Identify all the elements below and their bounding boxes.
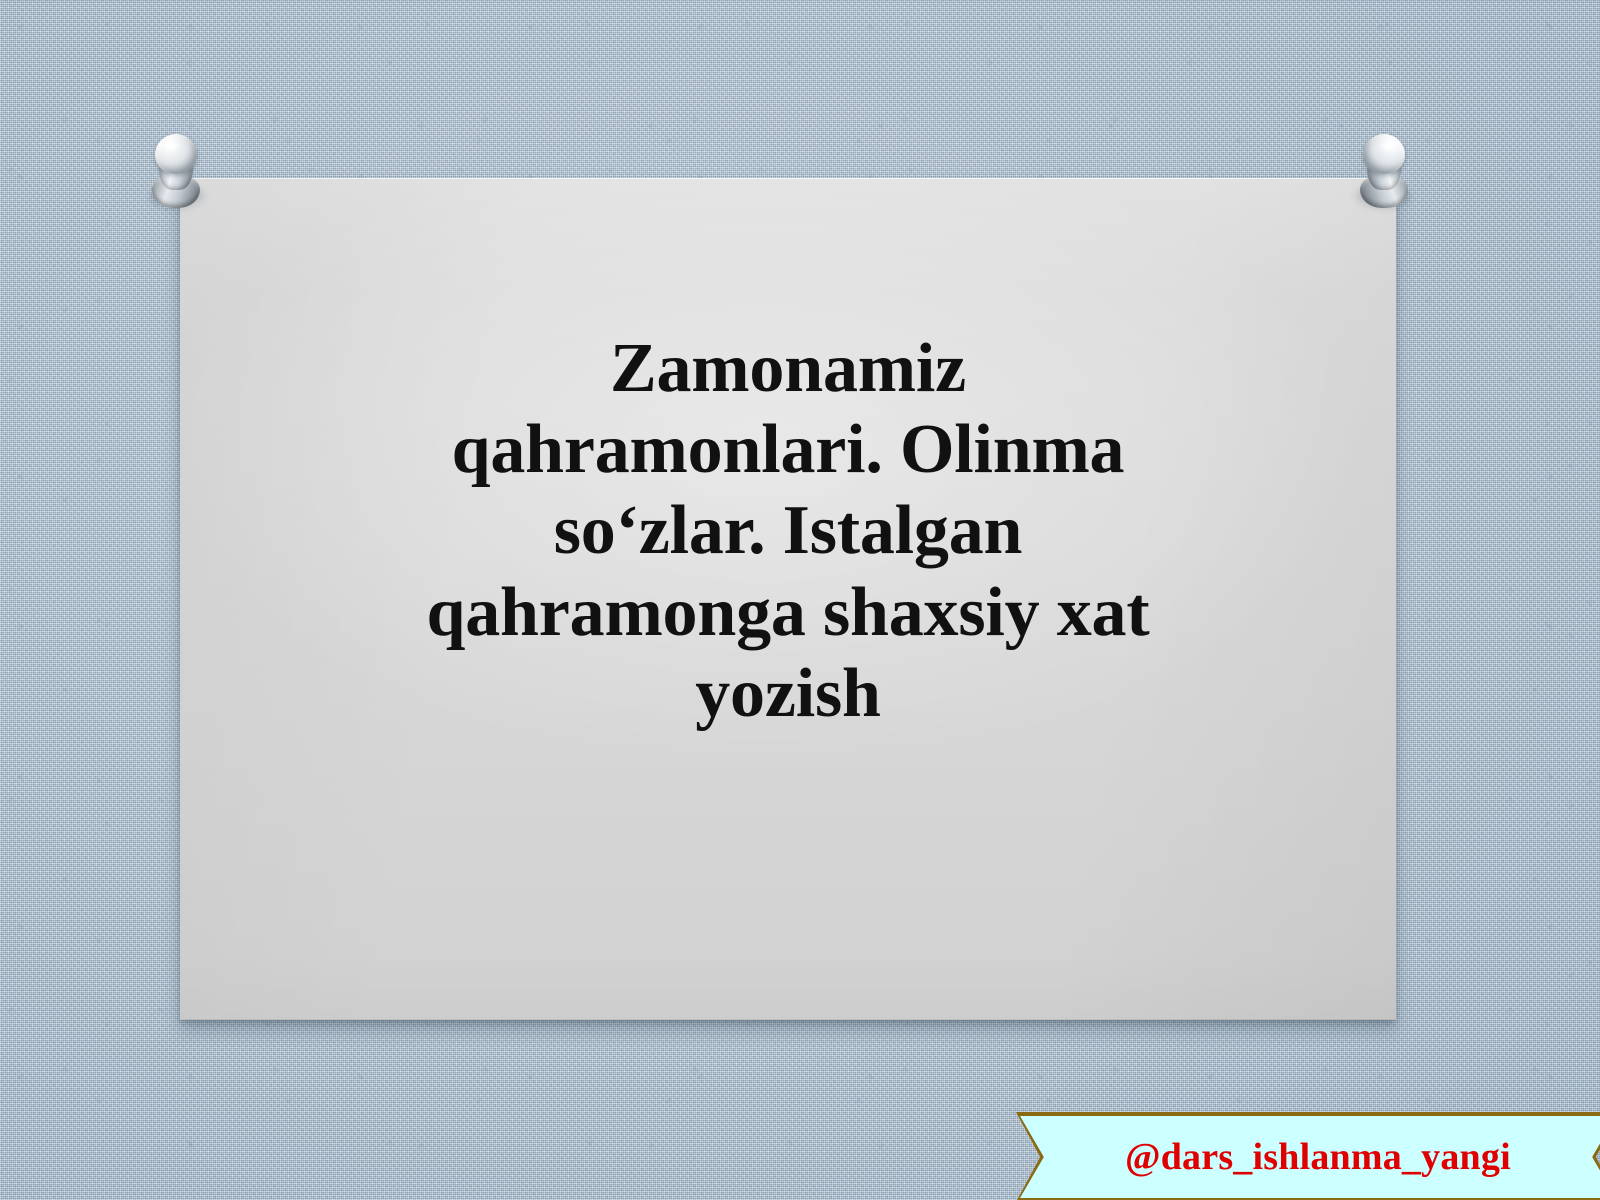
watermark-handle: @dars_ishlanma_yangi: [1020, 1116, 1600, 1198]
slide-canvas: Zamonamiz qahramonlari. Olinma so‘zlar. …: [0, 0, 1600, 1200]
title-line-4: qahramonga shaxsiy xat: [234, 572, 1342, 653]
title-line-5: yozish: [234, 653, 1342, 734]
title-line-1: Zamonamiz: [234, 328, 1342, 409]
slide-title-block: Zamonamiz qahramonlari. Olinma so‘zlar. …: [180, 328, 1396, 734]
title-line-3: so‘zlar. Istalgan: [234, 490, 1342, 571]
pinned-sheet: Zamonamiz qahramonlari. Olinma so‘zlar. …: [180, 178, 1396, 1020]
title-line-2: qahramonlari. Olinma: [234, 409, 1342, 490]
